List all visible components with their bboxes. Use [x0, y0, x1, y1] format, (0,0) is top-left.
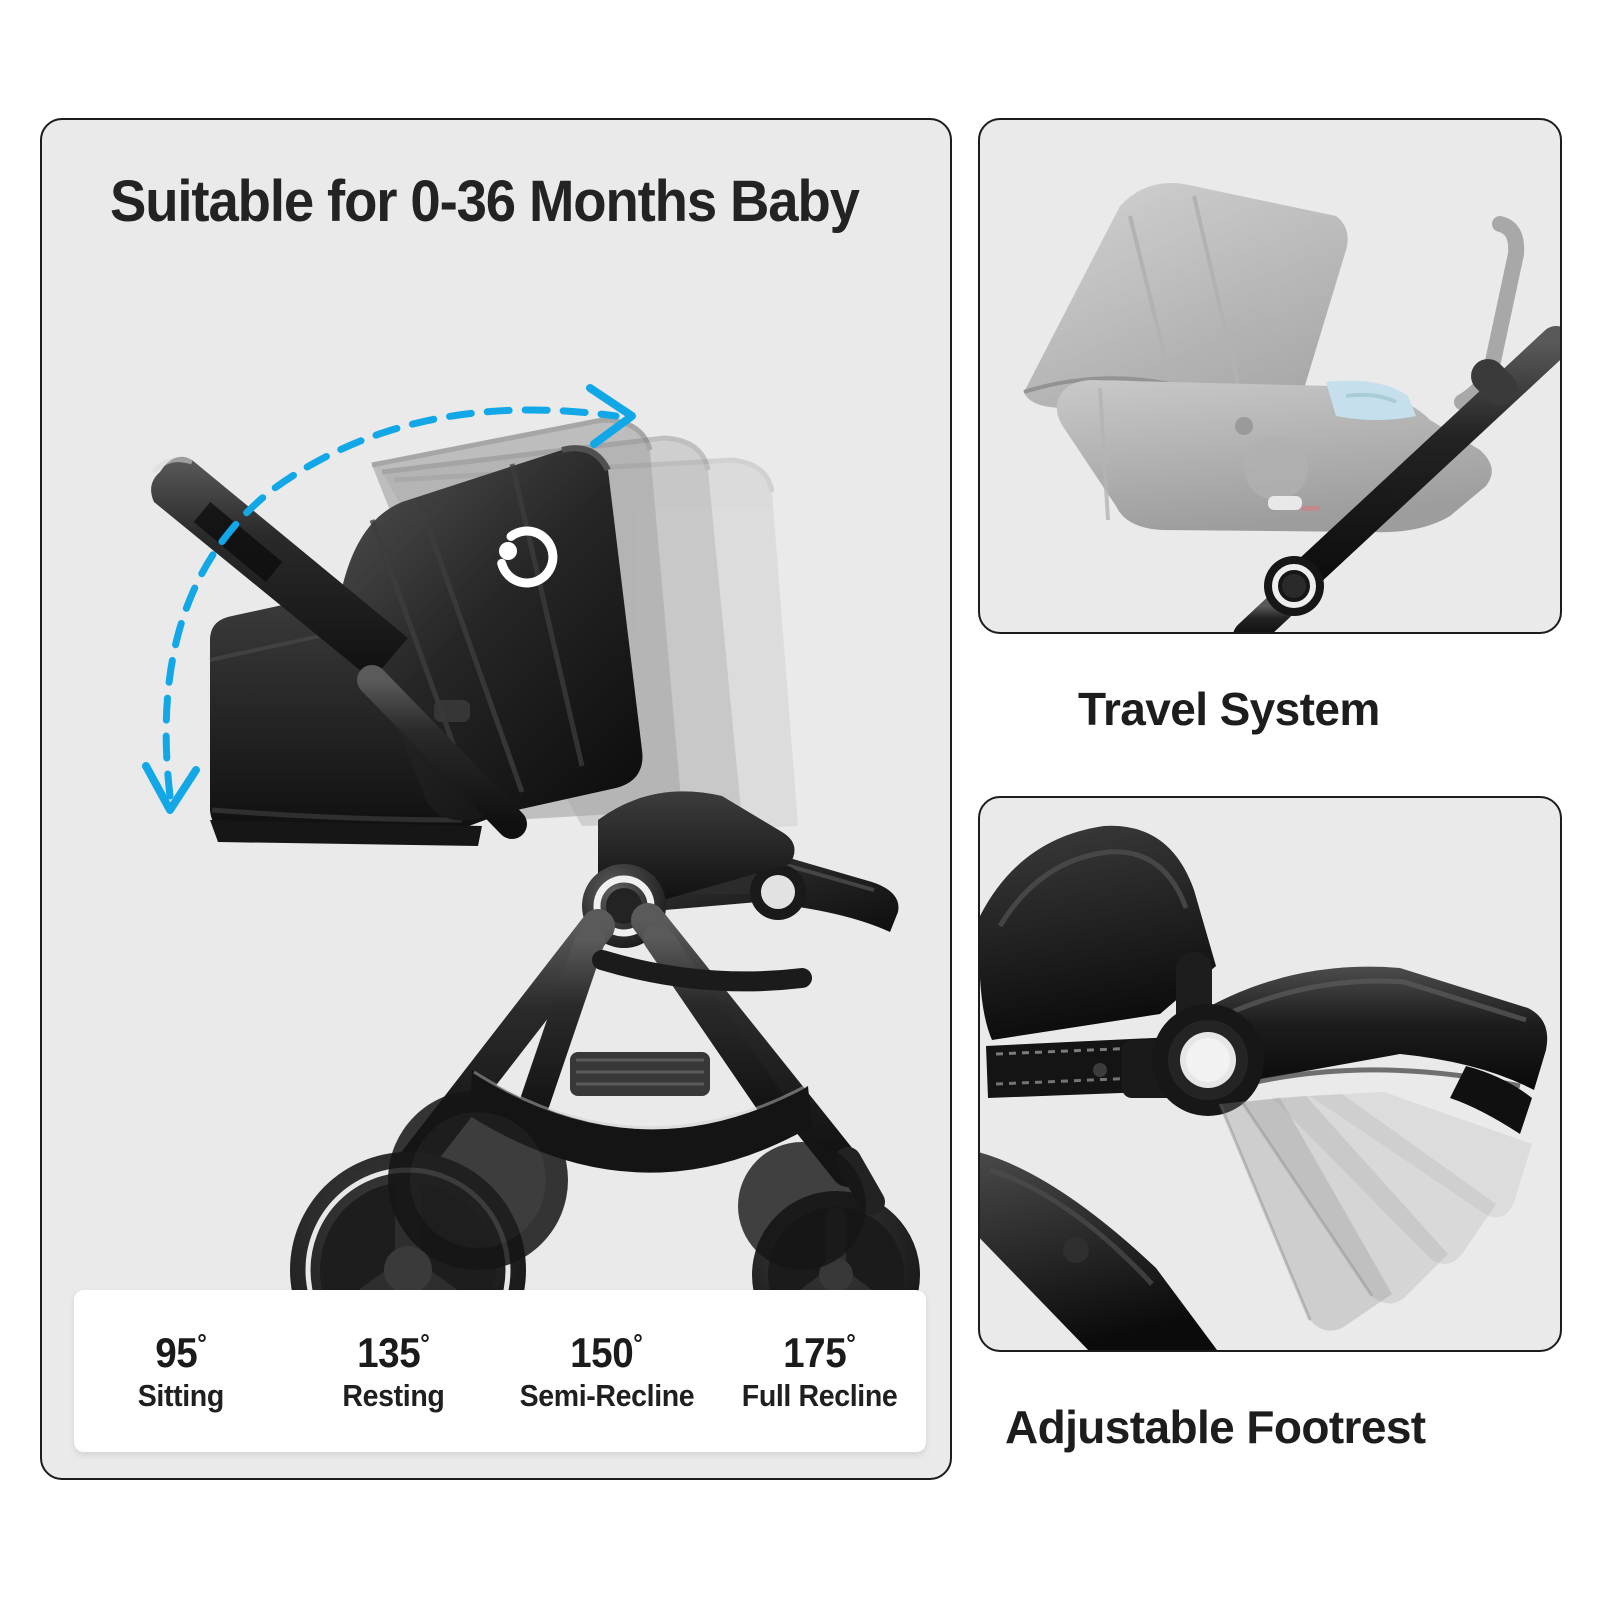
degree-symbol: ° — [197, 1328, 206, 1358]
infographic-canvas: Suitable for 0-36 Months Baby 95° Sittin… — [0, 0, 1600, 1600]
recline-angle-card: 95° Sitting 135° Resting 150° Semi-Recli… — [74, 1290, 926, 1452]
page-title: Suitable for 0-36 Months Baby — [110, 168, 859, 235]
stroller-front-wheel-far — [738, 1142, 866, 1270]
angle-label: Full Recline — [742, 1380, 898, 1411]
stroller-rear-wheel-far — [388, 1090, 568, 1270]
car-seat-hood — [1024, 183, 1348, 417]
angle-label: Resting — [342, 1380, 444, 1411]
angle-column-semi-recline: 150° Semi-Recline — [500, 1332, 713, 1411]
adjustable-footrest-caption: Adjustable Footrest — [1005, 1400, 1426, 1454]
stroller-illustration — [42, 120, 952, 1480]
degree-symbol: ° — [420, 1328, 429, 1358]
angle-label: Sitting — [137, 1380, 223, 1411]
degree-symbol: ° — [633, 1328, 642, 1358]
footrest-illustration — [980, 798, 1562, 1352]
adjustable-footrest-panel — [978, 796, 1562, 1352]
travel-system-panel — [978, 118, 1562, 634]
angle-label: Semi-Recline — [519, 1380, 694, 1411]
angle-column-full-recline: 175° Full Recline — [713, 1332, 926, 1411]
travel-system-caption: Travel System — [1078, 682, 1380, 736]
footrest-frame-tube — [980, 1150, 1220, 1352]
angle-value: 150° — [570, 1332, 642, 1374]
degree-symbol: ° — [846, 1328, 855, 1358]
main-feature-panel: Suitable for 0-36 Months Baby 95° Sittin… — [40, 118, 952, 1480]
car-seat-illustration — [980, 120, 1562, 634]
angle-column-sitting: 95° Sitting — [74, 1332, 287, 1411]
angle-value: 175° — [783, 1332, 855, 1374]
footrest-ghost-group — [1220, 1092, 1532, 1331]
seat-accent-blue — [1326, 381, 1416, 420]
angle-column-resting: 135° Resting — [287, 1332, 500, 1411]
angle-value: 135° — [357, 1332, 429, 1374]
frame-hub-icon — [1264, 556, 1324, 616]
angle-value: 95° — [155, 1332, 206, 1374]
